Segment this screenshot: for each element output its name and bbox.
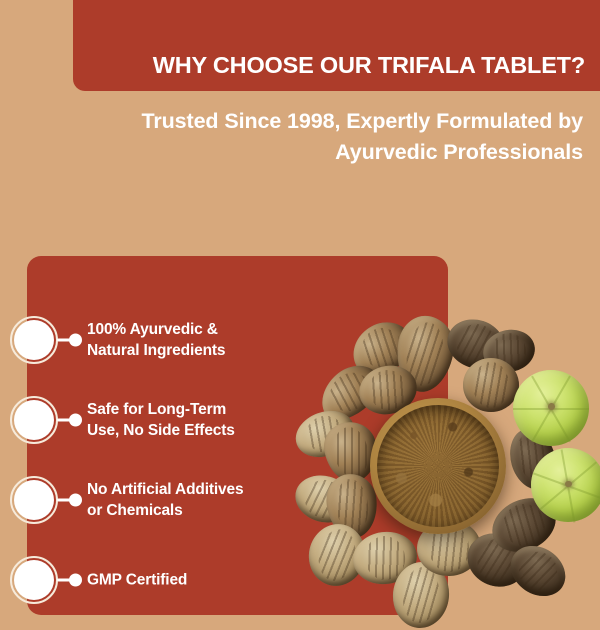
feature-line-2: or Chemicals bbox=[87, 500, 302, 521]
header-banner: WHY CHOOSE OUR TRIFALA TABLET? bbox=[73, 0, 600, 91]
marker-disc-icon bbox=[14, 320, 54, 360]
feature-line-1: Safe for Long-Term bbox=[87, 399, 302, 420]
circle-bullet-marker bbox=[10, 556, 58, 604]
circle-bullet-marker bbox=[10, 316, 58, 364]
feature-text: GMP Certified bbox=[87, 570, 302, 591]
product-image bbox=[295, 288, 600, 630]
list-item: GMP Certified bbox=[0, 540, 300, 620]
feature-line-2: Use, No Side Effects bbox=[87, 420, 302, 441]
feature-line-1: No Artificial Additives bbox=[87, 479, 302, 500]
connector-dot-icon bbox=[69, 494, 82, 507]
list-item: No Artificial Additives or Chemicals bbox=[0, 460, 300, 540]
circle-bullet-marker bbox=[10, 396, 58, 444]
list-item: 100% Ayurvedic & Natural Ingredients bbox=[0, 300, 300, 380]
list-item: Safe for Long-Term Use, No Side Effects bbox=[0, 380, 300, 460]
feature-line-2: Natural Ingredients bbox=[87, 340, 302, 361]
amla-fruit bbox=[531, 448, 600, 522]
infographic-canvas: WHY CHOOSE OUR TRIFALA TABLET? Trusted S… bbox=[0, 0, 600, 630]
feature-line-1: GMP Certified bbox=[87, 570, 302, 591]
page-title: WHY CHOOSE OUR TRIFALA TABLET? bbox=[153, 54, 585, 78]
powder-surface bbox=[377, 405, 499, 527]
connector-dot-icon bbox=[69, 334, 82, 347]
feature-text: Safe for Long-Term Use, No Side Effects bbox=[87, 399, 302, 441]
marker-disc-icon bbox=[14, 400, 54, 440]
amla-fruit bbox=[513, 370, 589, 446]
subtitle-line-2: Ayurvedic Professionals bbox=[40, 137, 583, 168]
header-subtitle: Trusted Since 1998, Expertly Formulated … bbox=[40, 106, 583, 168]
feature-list: 100% Ayurvedic & Natural Ingredients Saf… bbox=[0, 300, 300, 620]
marker-disc-icon bbox=[14, 560, 54, 600]
circle-bullet-marker bbox=[10, 476, 58, 524]
marker-disc-icon bbox=[14, 480, 54, 520]
subtitle-line-1: Trusted Since 1998, Expertly Formulated … bbox=[40, 106, 583, 137]
feature-line-1: 100% Ayurvedic & bbox=[87, 319, 302, 340]
feature-text: 100% Ayurvedic & Natural Ingredients bbox=[87, 319, 302, 361]
dried-fruit bbox=[463, 358, 519, 412]
feature-text: No Artificial Additives or Chemicals bbox=[87, 479, 302, 521]
trifala-powder-bowl bbox=[370, 398, 506, 534]
connector-dot-icon bbox=[69, 414, 82, 427]
connector-dot-icon bbox=[69, 574, 82, 587]
